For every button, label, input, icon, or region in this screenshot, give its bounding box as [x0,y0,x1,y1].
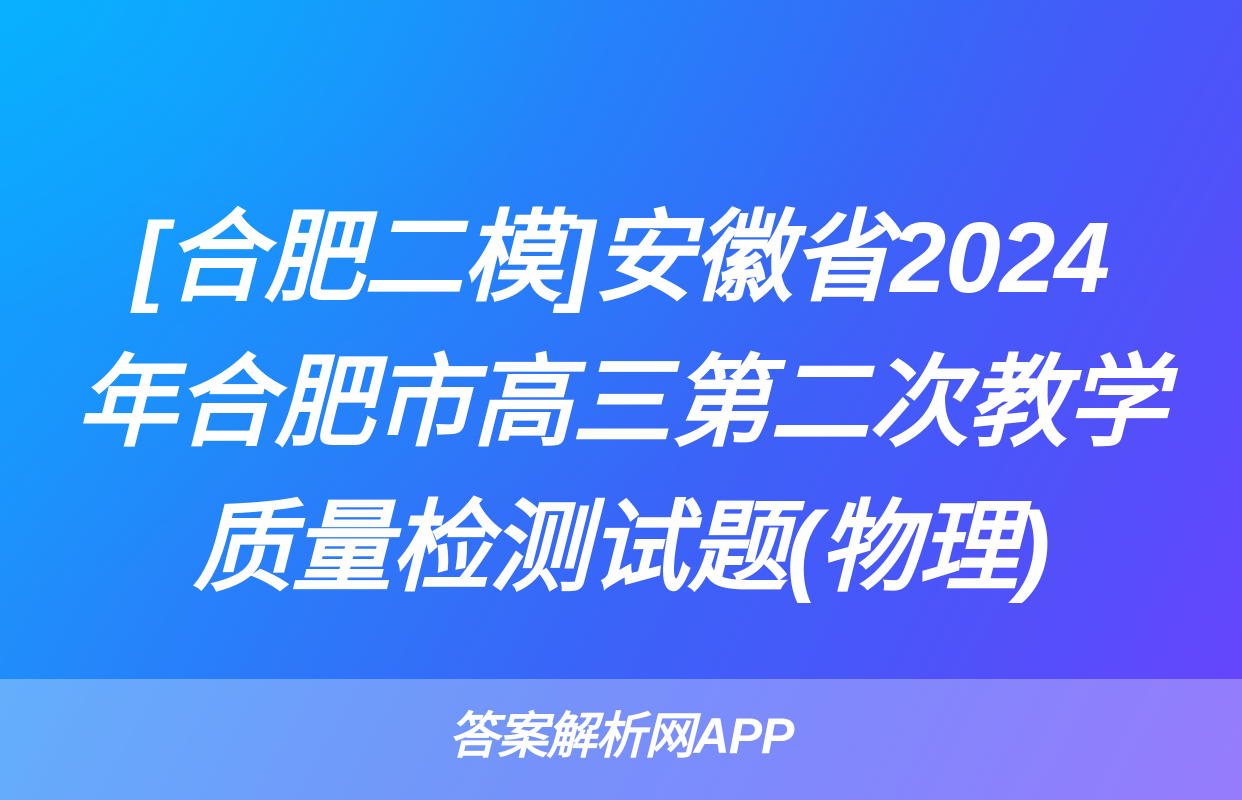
title-line-2: 年合肥市高三第二次教学 [0,331,1242,476]
poster-canvas: [合肥二模]安徽省2024 年合肥市高三第二次教学 质量检测试题(物理) 答案解… [0,0,1242,800]
title-line-3: 质量检测试题(物理) [0,476,1242,621]
title-line-1: [合肥二模]安徽省2024 [0,186,1242,331]
watermark-text: 答案解析网APP [449,707,794,765]
poster-title: [合肥二模]安徽省2024 年合肥市高三第二次教学 质量检测试题(物理) [0,186,1242,621]
watermark: 答案解析网APP [0,707,1242,765]
